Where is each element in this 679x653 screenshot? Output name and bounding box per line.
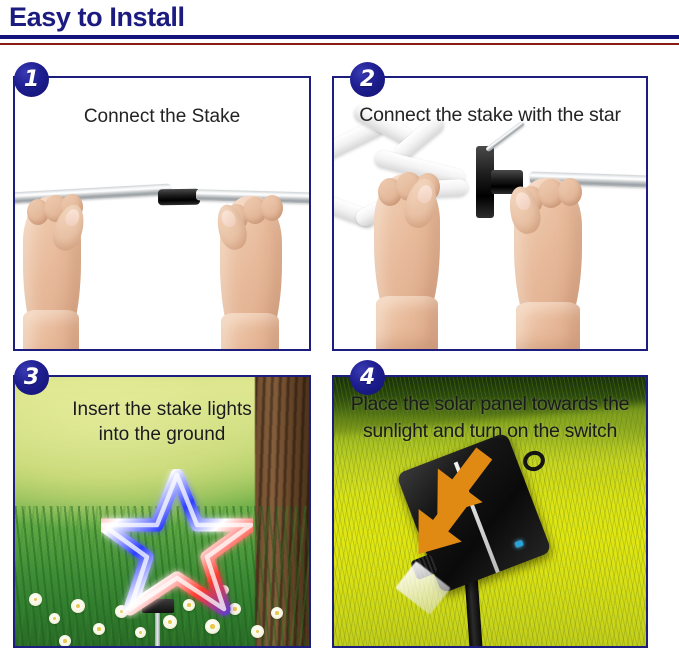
- divider-blue: [0, 35, 679, 39]
- step-caption-4-line-2: sunlight and turn on the switch: [340, 418, 640, 445]
- solar-panel-unit: [407, 445, 557, 648]
- solar-indicator-led: [514, 540, 524, 548]
- step-badge-2: 2: [350, 62, 385, 97]
- step-panel-2: Connect the stake with the star: [332, 76, 648, 351]
- star-light-icon: [101, 469, 253, 619]
- step-badge-1: 1: [14, 62, 49, 97]
- step-panel-1: Connect the Stake: [13, 76, 311, 351]
- page-title: Easy to Install: [9, 1, 185, 33]
- step-caption-2: Connect the stake with the star: [334, 102, 646, 128]
- step-caption-3: Insert the stake lights into the ground: [15, 397, 309, 447]
- step-caption-3-line-2: into the ground: [37, 422, 287, 447]
- sunlight-arrow-icon-2: [395, 483, 483, 571]
- step-caption-1: Connect the Stake: [15, 104, 309, 130]
- step-badge-3: 3: [14, 360, 49, 395]
- step-caption-4: Place the solar panel towards the sunlig…: [334, 391, 646, 445]
- solar-hanging-loop: [520, 448, 548, 475]
- step-panel-3: Insert the stake lights into the ground: [13, 375, 311, 648]
- divider-red: [0, 43, 679, 45]
- step-panel-4: Place the solar panel towards the sunlig…: [332, 375, 648, 648]
- stake-connector-sleeve: [158, 189, 200, 206]
- solar-mounting-post: [464, 575, 486, 648]
- step-badge-4: 4: [350, 360, 385, 395]
- step-caption-3-line-1: Insert the stake lights: [37, 397, 287, 422]
- step-caption-4-line-1: Place the solar panel towards the: [340, 391, 640, 418]
